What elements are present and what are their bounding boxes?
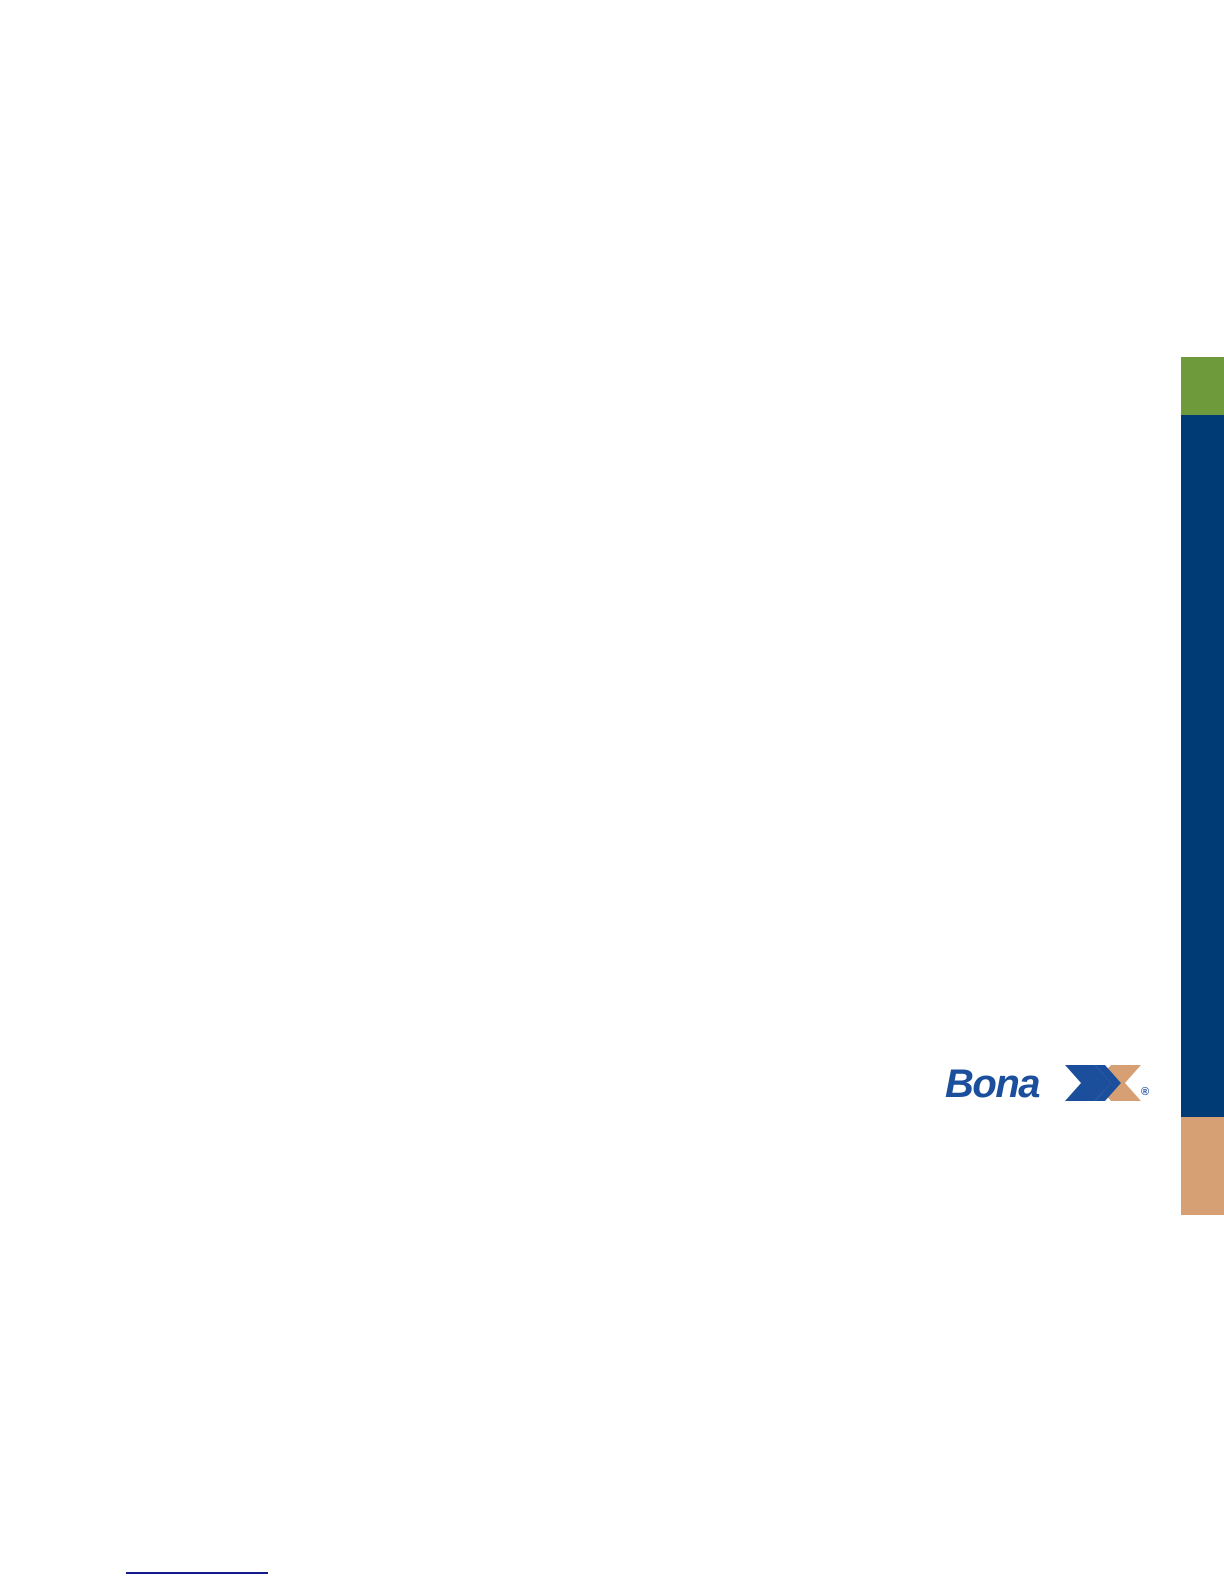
bona-logo: Bona ®	[945, 1059, 1153, 1105]
bona-logo-svg: Bona ®	[945, 1059, 1153, 1105]
logo-registered-trademark: ®	[1141, 1086, 1149, 1098]
edge-bar-tan	[1181, 1117, 1224, 1215]
edge-bar-blue	[1181, 415, 1224, 1117]
edge-bar-green	[1181, 357, 1224, 415]
document-page: Bona ®	[0, 0, 1224, 1584]
edge-color-band	[1181, 0, 1224, 1584]
footer-divider-rule	[126, 1572, 268, 1574]
logo-wordmark: Bona	[945, 1062, 1040, 1105]
